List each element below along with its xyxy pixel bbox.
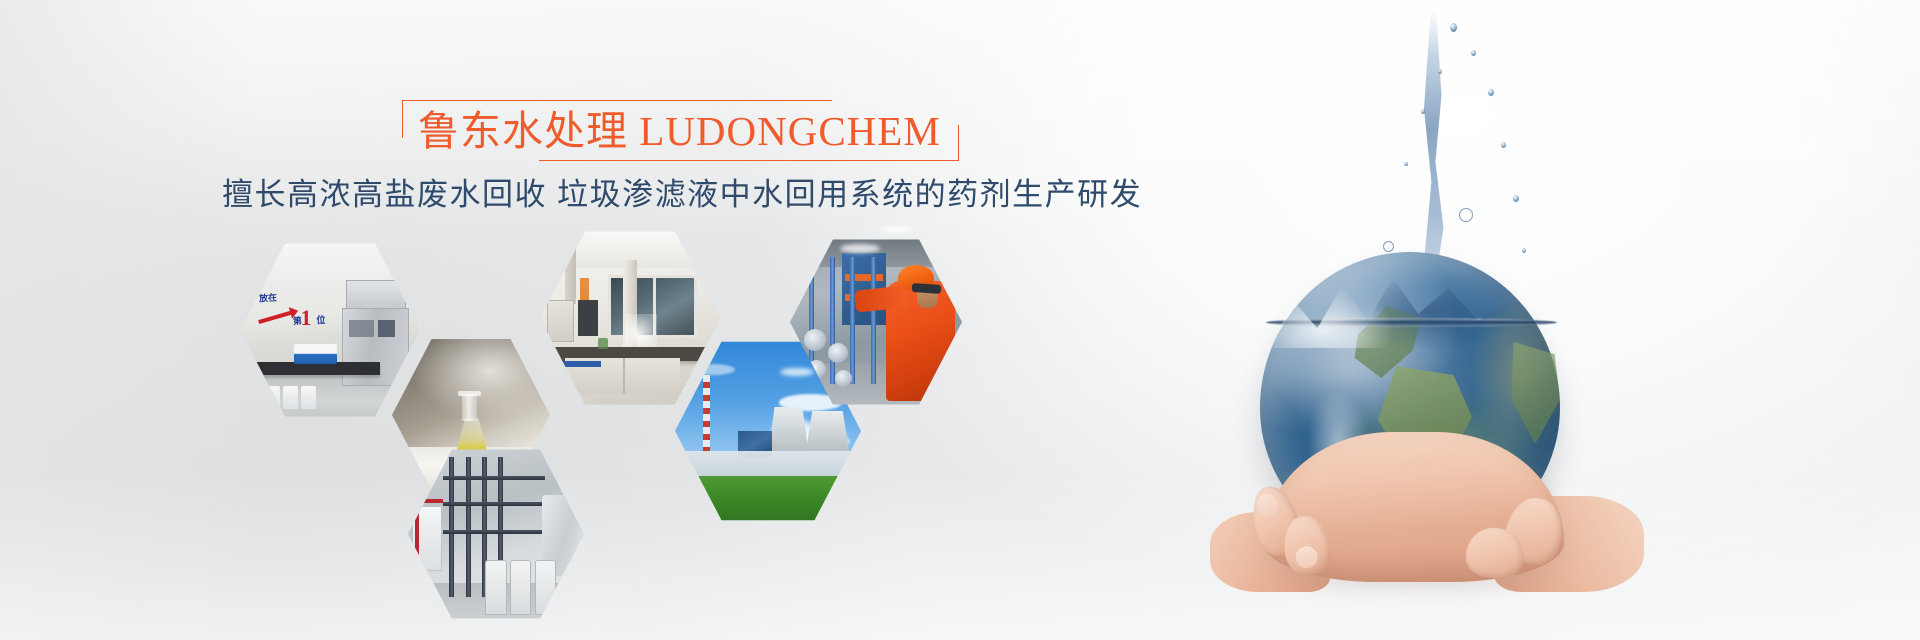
hero-banner: 鲁东水处理 LUDONGCHEM 擅长高浓高盐废水回收 垃圾渗滤液中水回用系统的… <box>0 0 1920 640</box>
lab-slogan-suffix: 位 <box>316 316 325 325</box>
hex-fume-hood-lab <box>540 228 720 408</box>
hex-laboratory-room: 放在 第 1 位 <box>240 240 420 420</box>
brand-title: 鲁东水处理 LUDONGCHEM <box>418 107 941 155</box>
banner-subtitle: 擅长高浓高盐废水回收 垃圾渗滤液中水回用系统的药剂生产研发 <box>222 175 1002 215</box>
hexagon-photo-collage: 放在 第 1 位 <box>240 218 960 638</box>
background-left-sheen <box>0 0 260 640</box>
brand-title-frame: 鲁东水处理 LUDONGCHEM <box>402 100 959 161</box>
cupped-hands <box>1250 392 1580 582</box>
water-globe-in-hands <box>1130 0 1750 640</box>
lab-slogan-line1: 放在 <box>259 293 278 303</box>
banner-headline: 鲁东水处理 LUDONGCHEM 擅长高浓高盐废水回收 垃圾渗滤液中水回用系统的… <box>222 100 1002 215</box>
globe-and-hands <box>1250 252 1580 582</box>
title-frame-underline <box>539 160 959 161</box>
lab-wall-slogan: 放在 第 1 位 <box>256 294 335 334</box>
title-frame-right-bracket <box>958 125 959 161</box>
lab-slogan-number: 1 <box>301 307 312 329</box>
